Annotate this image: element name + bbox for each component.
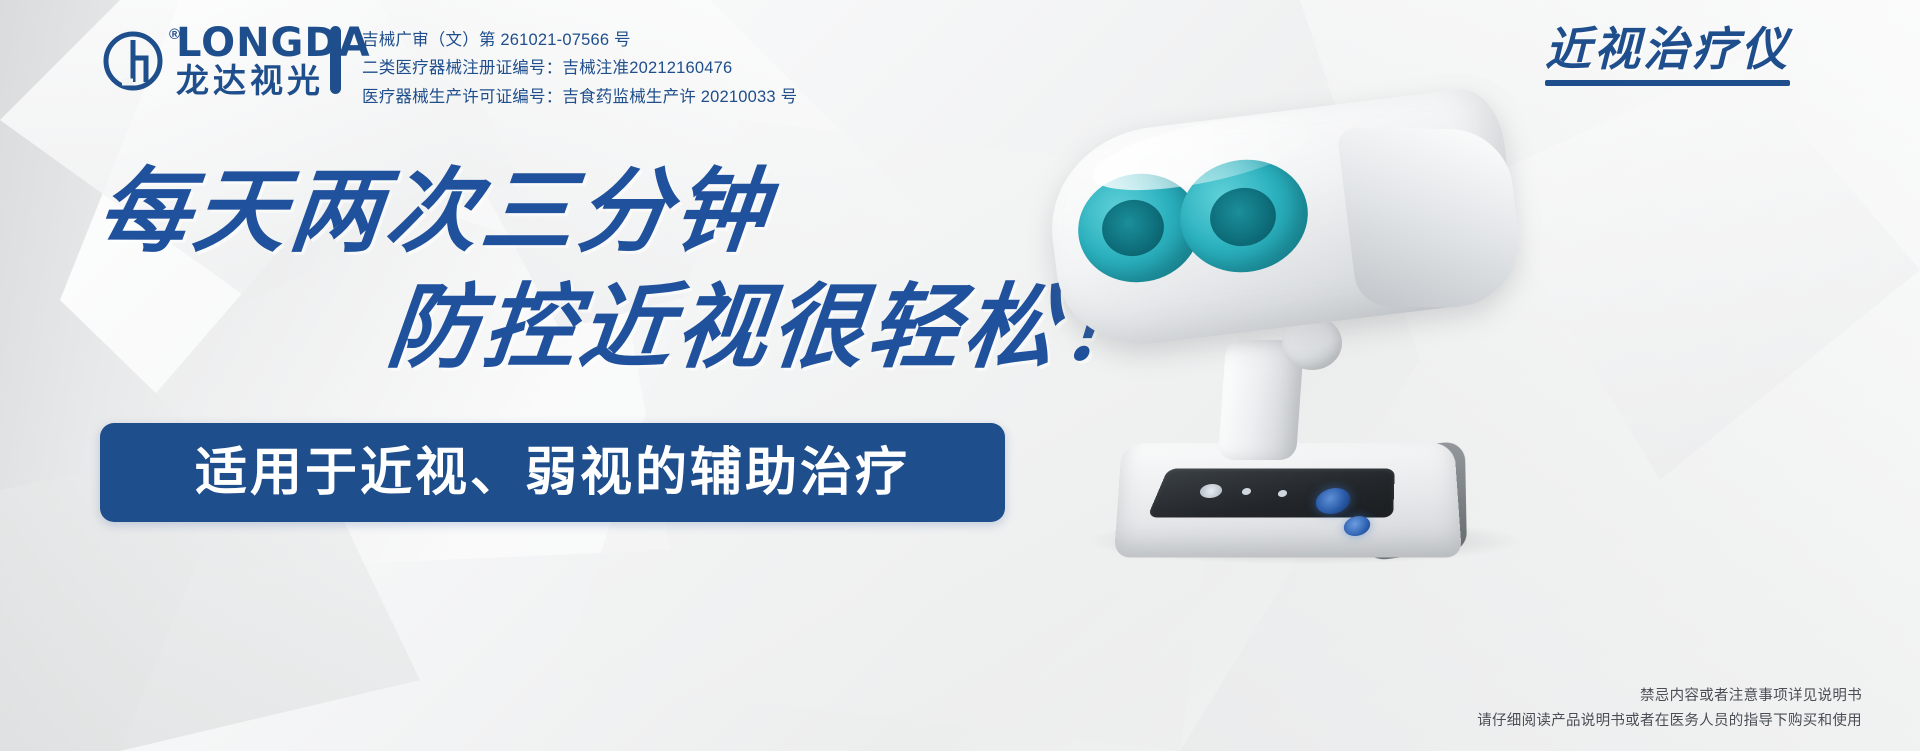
vertical-divider <box>330 26 341 94</box>
brand-name-en: LONGDA <box>176 24 371 62</box>
banner-header: ® LONGDA 龙达视光 吉械广审（文）第 261021-07566 号 二类… <box>0 0 1920 120</box>
promo-banner: ® LONGDA 龙达视光 吉械广审（文）第 261021-07566 号 二类… <box>0 0 1920 751</box>
regulatory-line-3: 医疗器械生产许可证编号：吉食药监械生产许 20210033 号 <box>362 85 797 109</box>
title-underline <box>1545 80 1790 86</box>
footer-disclaimer: 禁忌内容或者注意事项详见说明书 请仔细阅读产品说明书或者在医务人员的指导下购买和… <box>1477 686 1862 734</box>
brand-name-cn: 龙达视光 <box>176 64 371 97</box>
headline-line-1: 每天两次三分钟 <box>93 166 775 258</box>
product-title-badge: 近视治疗仪 <box>1545 24 1790 86</box>
product-title-text: 近视治疗仪 <box>1545 24 1790 75</box>
indication-callout-text: 适用于近视、弱视的辅助治疗 <box>195 447 910 499</box>
product-device-image <box>1030 88 1590 588</box>
regulatory-info: 吉械广审（文）第 261021-07566 号 二类医疗器械注册证编号：吉械注准… <box>362 28 797 109</box>
disclaimer-line-1: 禁忌内容或者注意事项详见说明书 <box>1477 686 1862 708</box>
disclaimer-line-2: 请仔细阅读产品说明书或者在医务人员的指导下购买和使用 <box>1477 711 1862 733</box>
device-head-side <box>1336 127 1528 309</box>
regulatory-line-1: 吉械广审（文）第 261021-07566 号 <box>362 28 797 52</box>
device-control-panel <box>1147 468 1395 517</box>
indication-callout-box: 适用于近视、弱视的辅助治疗 <box>100 423 1005 522</box>
regulatory-line-2: 二类医疗器械注册证编号：吉械注准20212160476 <box>362 56 797 80</box>
longda-circle-mark-icon: ® <box>100 28 166 94</box>
registered-mark: ® <box>169 26 180 43</box>
